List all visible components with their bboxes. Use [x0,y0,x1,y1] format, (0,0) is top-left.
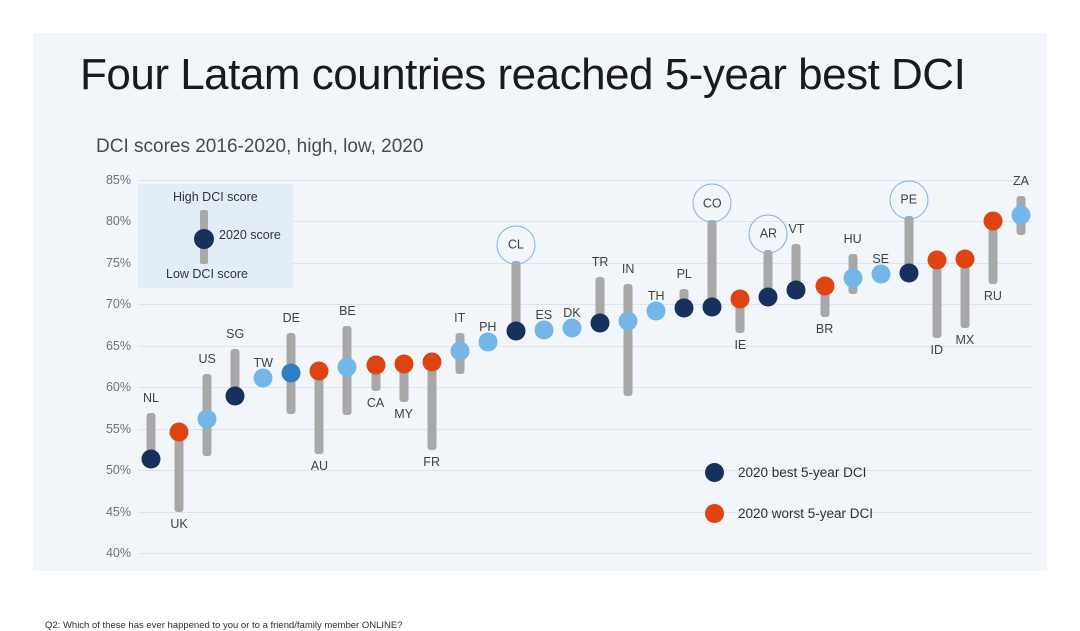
range-bar-fr [427,362,436,450]
data-point-sg[interactable] [226,387,245,406]
data-point-de[interactable] [282,364,301,383]
country-label-se: SE [872,252,889,266]
data-point-uk[interactable] [170,422,189,441]
data-point-dk[interactable] [562,318,581,337]
country-label-nl: NL [143,391,159,405]
data-point-id[interactable] [927,251,946,270]
data-point-es[interactable] [534,321,553,340]
data-point-vt[interactable] [787,281,806,300]
country-label-sg: SG [226,327,244,341]
highlight-label-ar: AR [749,214,788,253]
annotation-low-label: Low DCI score [166,267,248,281]
country-label-za: ZA [1013,174,1029,188]
gridline [138,553,1033,554]
country-label-fr: FR [423,455,440,469]
data-point-ph[interactable] [478,332,497,351]
country-label-id: ID [931,343,944,357]
annotation-score-dot-icon [194,229,214,249]
range-bar-mx [960,259,969,329]
data-point-co[interactable] [703,297,722,316]
data-point-fr[interactable] [422,353,441,372]
country-label-hu: HU [844,232,862,246]
country-label-ph: PH [479,320,496,334]
data-point-us[interactable] [198,409,217,428]
data-point-hu[interactable] [843,268,862,287]
country-label-ca: CA [367,396,384,410]
y-axis-tick: 80% [85,214,131,228]
country-label-au: AU [311,459,328,473]
country-label-it: IT [454,311,465,325]
data-point-my[interactable] [394,355,413,374]
legend-label: 2020 worst 5-year DCI [738,506,873,521]
data-point-be[interactable] [338,358,357,377]
legend-item: 2020 worst 5-year DCI [705,504,873,523]
legend-item: 2020 best 5-year DCI [705,463,873,482]
country-label-th: TH [648,289,665,303]
annotation-2020-label: 2020 score [219,228,281,242]
y-axis-tick: 60% [85,380,131,394]
gridline [138,512,1033,513]
legend-label: 2020 best 5-year DCI [738,465,866,480]
country-label-ru: RU [984,289,1002,303]
range-bar-au [315,371,324,453]
data-point-au[interactable] [310,362,329,381]
country-label-uk: UK [170,517,187,531]
y-axis-tick: 75% [85,256,131,270]
legend-swatch-icon [705,504,724,523]
range-bar-id [932,260,941,338]
gridline [138,346,1033,347]
inline-annotation-legend: High DCI score 2020 score Low DCI score [138,184,293,288]
y-axis-tick: 40% [85,546,131,560]
data-point-ru[interactable] [983,211,1002,230]
country-label-be: BE [339,304,356,318]
y-axis-tick: 85% [85,173,131,187]
data-point-it[interactable] [450,341,469,360]
range-bar-in [624,284,633,396]
gridline [138,304,1033,305]
country-label-my: MY [394,407,413,421]
country-label-pl: PL [677,267,692,281]
highlight-label-cl: CL [496,225,535,264]
data-point-th[interactable] [647,301,666,320]
gridline [138,180,1033,181]
data-point-in[interactable] [619,311,638,330]
y-axis-tick: 70% [85,297,131,311]
data-point-br[interactable] [815,277,834,296]
data-point-tw[interactable] [254,369,273,388]
gridline [138,470,1033,471]
data-point-za[interactable] [1012,205,1031,224]
y-axis-tick: 45% [85,505,131,519]
data-point-pl[interactable] [675,299,694,318]
country-label-dk: DK [563,306,580,320]
country-label-de: DE [283,311,300,325]
data-point-cl[interactable] [506,321,525,340]
footnote: Q2: Which of these has ever happened to … [45,620,402,631]
country-label-ie: IE [734,338,746,352]
gridline [138,429,1033,430]
data-point-ar[interactable] [759,287,778,306]
country-label-es: ES [536,308,553,322]
range-bar-co [708,220,717,307]
country-label-br: BR [816,322,833,336]
legend-swatch-icon [705,463,724,482]
highlight-label-pe: PE [889,180,928,219]
y-axis-tick: 50% [85,463,131,477]
data-point-pe[interactable] [899,263,918,282]
data-point-mx[interactable] [955,249,974,268]
range-bar-uk [175,432,184,512]
highlight-label-co: CO [693,184,732,223]
data-point-se[interactable] [871,265,890,284]
country-label-vt: VT [788,222,804,236]
chart-plot-area: 85%80%75%70%65%60%55%50%45%40% High DCI … [33,33,1047,571]
data-point-ie[interactable] [731,289,750,308]
annotation-high-label: High DCI score [173,190,258,204]
y-axis-tick: 65% [85,339,131,353]
y-axis-tick: 55% [85,422,131,436]
country-label-mx: MX [955,333,974,347]
gridline [138,387,1033,388]
country-label-tw: TW [254,356,273,370]
country-label-us: US [198,352,215,366]
chart-legend: 2020 best 5-year DCI2020 worst 5-year DC… [705,463,873,545]
slide-canvas: Four Latam countries reached 5-year best… [33,33,1047,571]
country-label-in: IN [622,262,635,276]
data-point-ca[interactable] [366,355,385,374]
country-label-tr: TR [592,255,609,269]
data-point-tr[interactable] [591,314,610,333]
data-point-nl[interactable] [142,449,161,468]
